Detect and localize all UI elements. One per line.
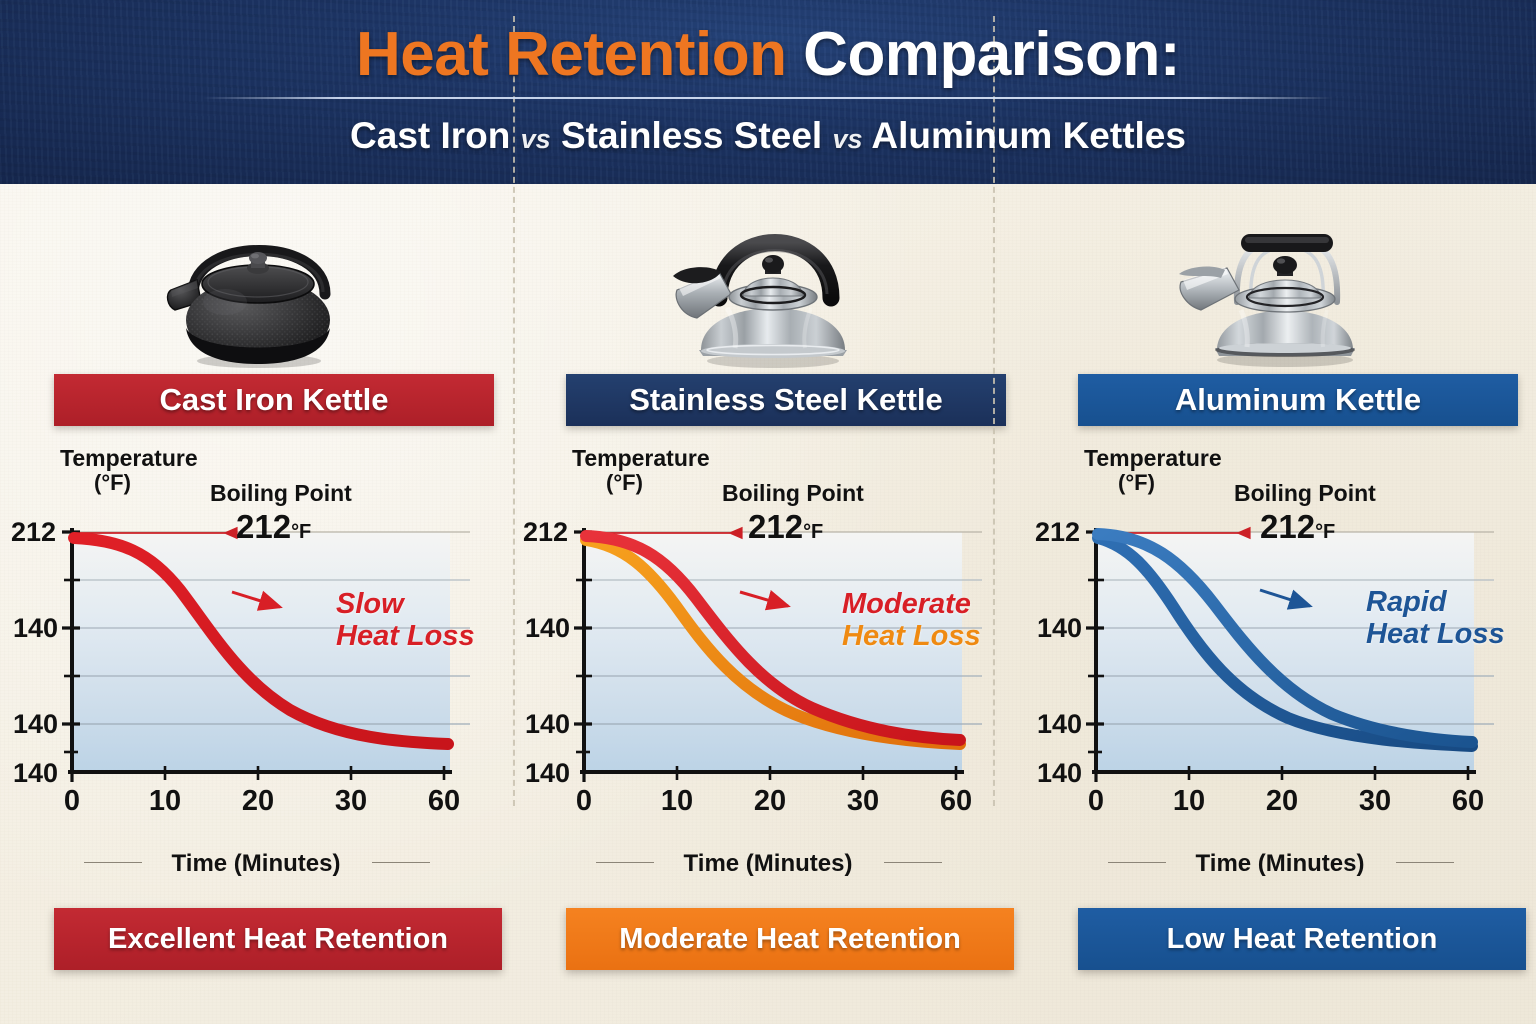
page-title: Heat Retention Comparison: [0, 22, 1536, 87]
callout-aluminum: Rapid Heat Loss [1366, 586, 1505, 651]
column-label-text: Stainless Steel Kettle [629, 382, 943, 418]
x-axis-rule-left [1108, 862, 1166, 863]
subtitle-vs-1: vs [521, 124, 551, 154]
cast-iron-kettle-image [0, 192, 512, 370]
boiling-point-value: 212 [1260, 508, 1315, 545]
y-axis-title-group: Temperature (°F) [572, 446, 710, 495]
stainless-kettle-image [512, 192, 1024, 370]
svg-text:30: 30 [847, 785, 879, 817]
chart-cast-iron: 212 140 140 140 0 10 20 30 60 [0, 442, 512, 882]
stainless-steel-kettle-icon [653, 198, 883, 370]
footer-text: Low Heat Retention [1167, 923, 1438, 956]
svg-text:60: 60 [940, 785, 972, 817]
svg-text:140: 140 [1037, 758, 1082, 788]
boiling-point-label: Boiling Point [1234, 480, 1376, 507]
aluminum-kettle-image [1024, 192, 1536, 370]
subtitle-aluminum: Aluminum Kettles [871, 115, 1186, 156]
column-label-stainless: Stainless Steel Kettle [566, 374, 1006, 426]
subtitle-stainless: Stainless Steel [561, 115, 822, 156]
column-aluminum: Aluminum Kettle [1024, 184, 1536, 1024]
footer-cast-iron: Excellent Heat Retention [54, 908, 502, 970]
footer-aluminum: Low Heat Retention [1078, 908, 1526, 970]
svg-text:212: 212 [1035, 517, 1080, 547]
y-tick-2: 140 [13, 709, 58, 739]
x-axis-rule-right [372, 862, 430, 863]
boiling-point-value-group: 212°F [236, 508, 311, 546]
footer-text: Moderate Heat Retention [619, 923, 961, 956]
svg-text:20: 20 [754, 785, 786, 817]
subtitle-vs-2: vs [832, 124, 862, 154]
column-label-text: Cast Iron Kettle [159, 382, 388, 418]
y-tick-3: 140 [13, 758, 58, 788]
footer-stainless: Moderate Heat Retention [566, 908, 1014, 970]
svg-text:20: 20 [242, 785, 274, 817]
title-accent: Heat Retention [356, 20, 786, 89]
column-label-cast-iron: Cast Iron Kettle [54, 374, 494, 426]
boiling-point-value: 212 [748, 508, 803, 545]
callout-stainless: Moderate Heat Loss [842, 588, 981, 653]
callout-line-2: Heat Loss [1366, 618, 1505, 650]
svg-text:10: 10 [1173, 785, 1205, 817]
column-cast-iron: Cast Iron Kettle [0, 184, 512, 1024]
y-tick-1: 140 [13, 613, 58, 643]
callout-cast-iron: Slow Heat Loss [336, 588, 475, 653]
boiling-point-label: Boiling Point [210, 480, 352, 507]
x-axis-rule-left [596, 862, 654, 863]
svg-text:140: 140 [525, 758, 570, 788]
callout-line-1: Moderate [842, 588, 981, 620]
x-axis-title: Time (Minutes) [1024, 850, 1536, 878]
svg-text:60: 60 [428, 785, 460, 817]
x-axis-title: Time (Minutes) [0, 850, 512, 878]
boiling-point-unit: °F [1315, 521, 1335, 543]
column-stainless-steel: Stainless Steel Kettle [512, 184, 1024, 1024]
svg-text:30: 30 [335, 785, 367, 817]
callout-line-2: Heat Loss [336, 620, 475, 652]
y-axis-title: Temperature [60, 445, 198, 471]
comparison-columns: Cast Iron Kettle [0, 184, 1536, 1024]
boiling-point-unit: °F [803, 521, 823, 543]
y-axis-unit: (°F) [572, 471, 677, 495]
y-axis-unit: (°F) [1084, 471, 1189, 495]
svg-text:0: 0 [1088, 785, 1104, 817]
y-axis-unit: (°F) [60, 471, 165, 495]
header-banner: Heat Retention Comparison: Cast Iron vs … [0, 0, 1536, 184]
column-label-text: Aluminum Kettle [1175, 382, 1421, 418]
callout-line-1: Slow [336, 588, 475, 620]
y-tick-0: 212 [11, 517, 56, 547]
footer-text: Excellent Heat Retention [108, 923, 448, 956]
boiling-point-value: 212 [236, 508, 291, 545]
svg-text:30: 30 [1359, 785, 1391, 817]
y-axis-title: Temperature [572, 445, 710, 471]
svg-text:212: 212 [523, 517, 568, 547]
svg-text:60: 60 [1452, 785, 1484, 817]
svg-text:0: 0 [576, 785, 592, 817]
chart-aluminum: 212 140 140 140 0 10 20 30 60 [1024, 442, 1536, 882]
callout-line-2: Heat Loss [842, 620, 981, 652]
column-label-aluminum: Aluminum Kettle [1078, 374, 1518, 426]
svg-text:10: 10 [661, 785, 693, 817]
svg-text:10: 10 [149, 785, 181, 817]
x-axis-rule-right [884, 862, 942, 863]
svg-text:0: 0 [64, 785, 80, 817]
title-divider [203, 97, 1333, 99]
svg-text:20: 20 [1266, 785, 1298, 817]
boiling-point-unit: °F [291, 521, 311, 543]
y-axis-title-group: Temperature (°F) [1084, 446, 1222, 495]
callout-line-1: Rapid [1366, 586, 1505, 618]
x-axis-title: Time (Minutes) [512, 850, 1024, 878]
svg-text:140: 140 [1037, 709, 1082, 739]
x-axis-rule-right [1396, 862, 1454, 863]
subtitle-cast-iron: Cast Iron [350, 115, 510, 156]
svg-text:140: 140 [1037, 613, 1082, 643]
boiling-point-value-group: 212°F [748, 508, 823, 546]
y-axis-title: Temperature [1084, 445, 1222, 471]
title-rest: Comparison: [786, 20, 1180, 89]
svg-text:140: 140 [525, 709, 570, 739]
chart-stainless-steel: 212 140 140 140 0 10 20 30 60 [512, 442, 1024, 882]
boiling-point-value-group: 212°F [1260, 508, 1335, 546]
y-axis-title-group: Temperature (°F) [60, 446, 198, 495]
boiling-point-label: Boiling Point [722, 480, 864, 507]
x-axis-rule-left [84, 862, 142, 863]
svg-text:140: 140 [525, 613, 570, 643]
page-subtitle: Cast Iron vs Stainless Steel vs Aluminum… [0, 115, 1536, 157]
infographic-page: Heat Retention Comparison: Cast Iron vs … [0, 0, 1536, 1024]
cast-iron-kettle-icon [141, 198, 371, 370]
aluminum-kettle-icon [1165, 198, 1395, 370]
